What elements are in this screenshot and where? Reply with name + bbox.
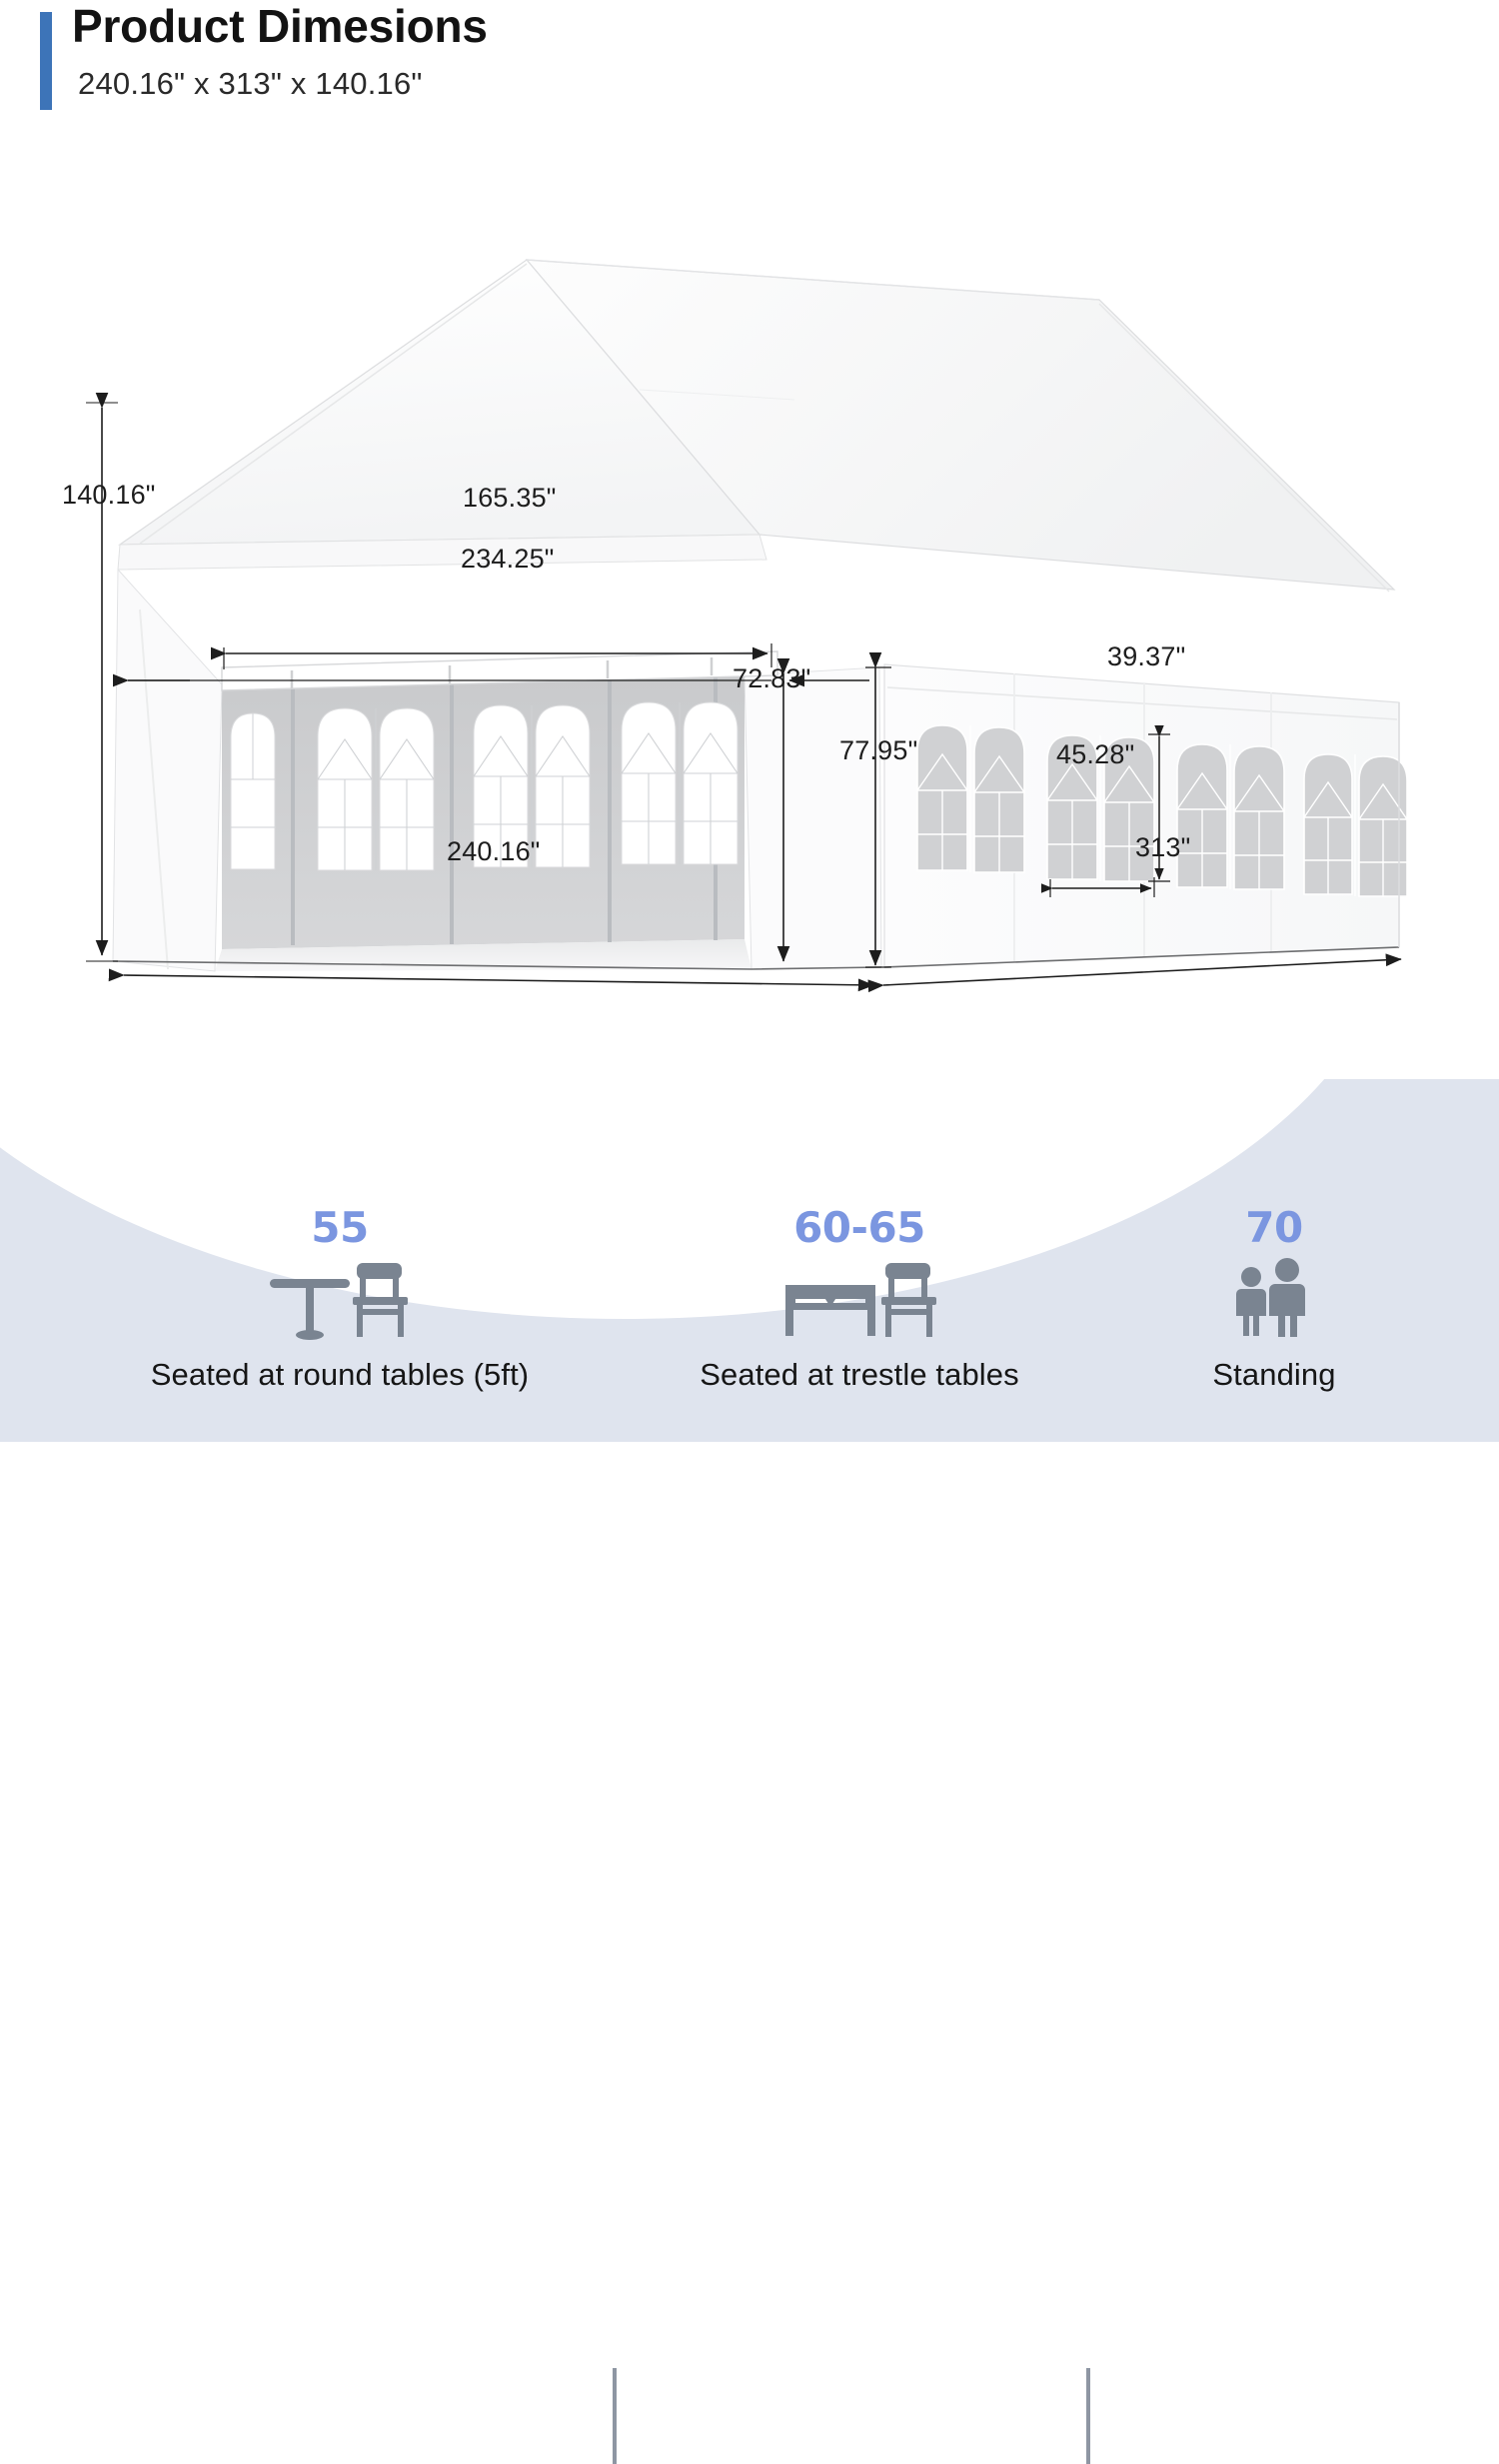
dimlabel-overall-height: 140.16": [62, 480, 156, 511]
dimlabel-canopy-top-width: 165.35": [463, 483, 557, 514]
capacity-item-standing: 70 Standing: [1109, 1207, 1439, 1393]
capacity-label-trestle-tables: Seated at trestle tables: [640, 1357, 1079, 1393]
dimlabel-sidewall-height: 77.95": [839, 735, 917, 766]
capacity-item-trestle-tables: 60-65: [640, 1207, 1079, 1393]
capacity-items: 55 Seated at round tab: [0, 1079, 1499, 1442]
side-window-3: [1177, 744, 1284, 889]
tent-structure: [113, 260, 1407, 971]
trestle-table-and-chair-icon: [640, 1253, 1079, 1345]
dimlabel-side-length: 313": [1135, 832, 1190, 863]
dimline-front-width: [124, 975, 873, 985]
round-table-and-chair-icon: [60, 1253, 620, 1345]
capacity-item-round-tables: 55 Seated at round tab: [60, 1207, 620, 1393]
dimlabel-front-opening-width: 234.25": [461, 544, 555, 575]
side-window-4: [1304, 754, 1407, 896]
dimlabel-window-width: 45.28": [1056, 739, 1134, 770]
page-header: Product Dimesions 240.16" x 313" x 140.1…: [0, 0, 1499, 140]
front-left-wall-panel: [113, 570, 222, 971]
two-people-standing-icon: [1109, 1253, 1439, 1345]
capacity-count-trestle-tables: 60-65: [640, 1207, 1079, 1249]
capacity-label-standing: Standing: [1109, 1357, 1439, 1393]
page-title: Product Dimesions: [72, 2, 488, 52]
capacity-divider-1: [613, 2368, 617, 2464]
dimlabel-front-width: 240.16": [447, 836, 541, 867]
dimlabel-window-height: 39.37": [1107, 641, 1185, 672]
capacity-count-round-tables: 55: [60, 1207, 620, 1249]
capacity-count-standing: 70: [1109, 1207, 1439, 1249]
title-accent-bar: [40, 12, 52, 110]
product-illustration: 140.16" 165.35" 234.25" 72.83" 77.95" 39…: [0, 140, 1499, 1069]
capacity-divider-2: [1086, 2368, 1090, 2464]
dimlabel-opening-height: 72.83": [733, 663, 810, 694]
capacity-label-round-tables: Seated at round tables (5ft): [60, 1357, 620, 1393]
front-right-wall-panel: [745, 667, 881, 969]
tent-drawing: [0, 140, 1499, 1069]
side-window-1: [917, 725, 1024, 872]
dimensions-summary: 240.16" x 313" x 140.16": [78, 66, 423, 102]
